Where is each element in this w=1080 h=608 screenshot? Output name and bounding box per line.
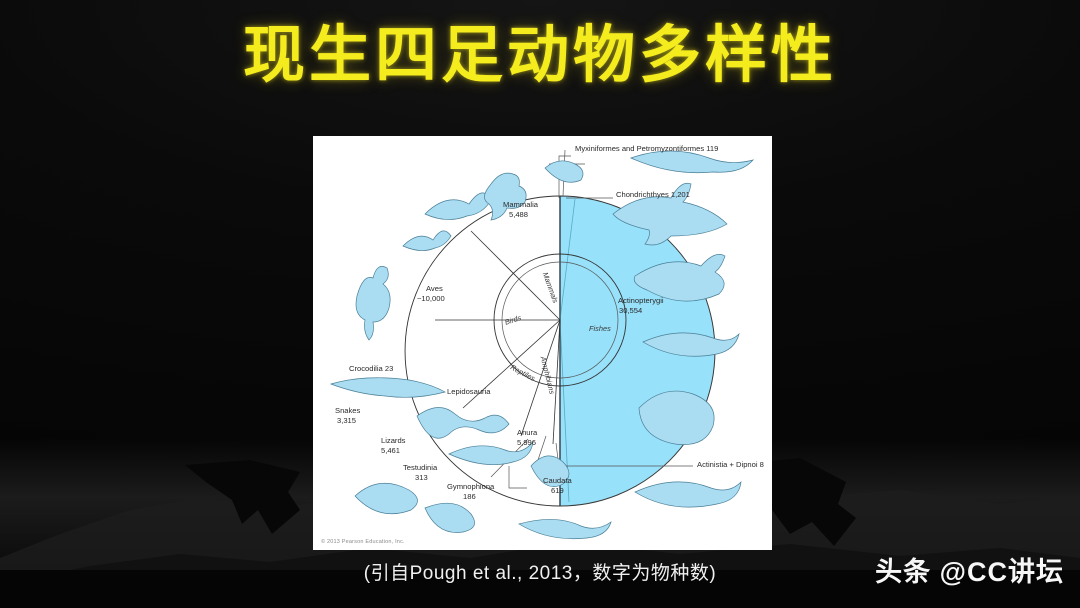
animal-illustrations <box>331 151 753 539</box>
label-lepidosauria: Lepidosauria <box>447 387 491 396</box>
label-actinopterygii-count: 30,554 <box>619 306 642 315</box>
label-lizards: Lizards <box>381 436 405 445</box>
label-anura: Anura <box>517 428 537 437</box>
label-caudata: Caudata <box>543 476 572 485</box>
label-aves: Aves <box>426 284 443 293</box>
label-gymnophiona-count: 186 <box>463 492 476 501</box>
label-myxiniformes: Myxiniformes and Petromyzontiformes 119 <box>575 144 718 153</box>
label-chondrichthyes: Chondrichthyes 1,201 <box>616 190 690 199</box>
label-testudinia-count: 313 <box>415 473 428 482</box>
label-anura-count: 5,996 <box>517 438 536 447</box>
label-actinopterygii: Actinopterygii <box>618 296 664 305</box>
label-snakes: Snakes <box>335 406 360 415</box>
figure-panel: Myxiniformes and Petromyzontiformes 119 … <box>313 136 772 550</box>
label-snakes-count: 3,315 <box>337 416 356 425</box>
label-lizards-count: 5,461 <box>381 446 400 455</box>
label-crocodilia: Crocodilia 23 <box>349 364 393 373</box>
label-testudinia: Testudinia <box>403 463 437 472</box>
label-gymnophiona: Gymnophiona <box>447 482 494 491</box>
label-caudata-count: 619 <box>551 486 564 495</box>
watermark: 头条 @CC讲坛 <box>875 550 1064 589</box>
label-actinistia-dipnoi: Actinistia + Dipnoi 8 <box>697 460 764 469</box>
copyright-notice: © 2013 Pearson Education, Inc. <box>321 539 405 545</box>
ring-label-fishes: Fishes <box>589 324 611 333</box>
label-aves-count: ~10,000 <box>417 294 445 303</box>
label-mammalia-count: 5,488 <box>509 210 528 219</box>
page-title: 现生四足动物多样性 <box>0 22 1080 90</box>
slide-root: 现生四足动物多样性 <box>0 0 1080 608</box>
label-mammalia: Mammalia <box>503 200 538 209</box>
tetrapod-diversity-diagram <box>313 136 772 550</box>
